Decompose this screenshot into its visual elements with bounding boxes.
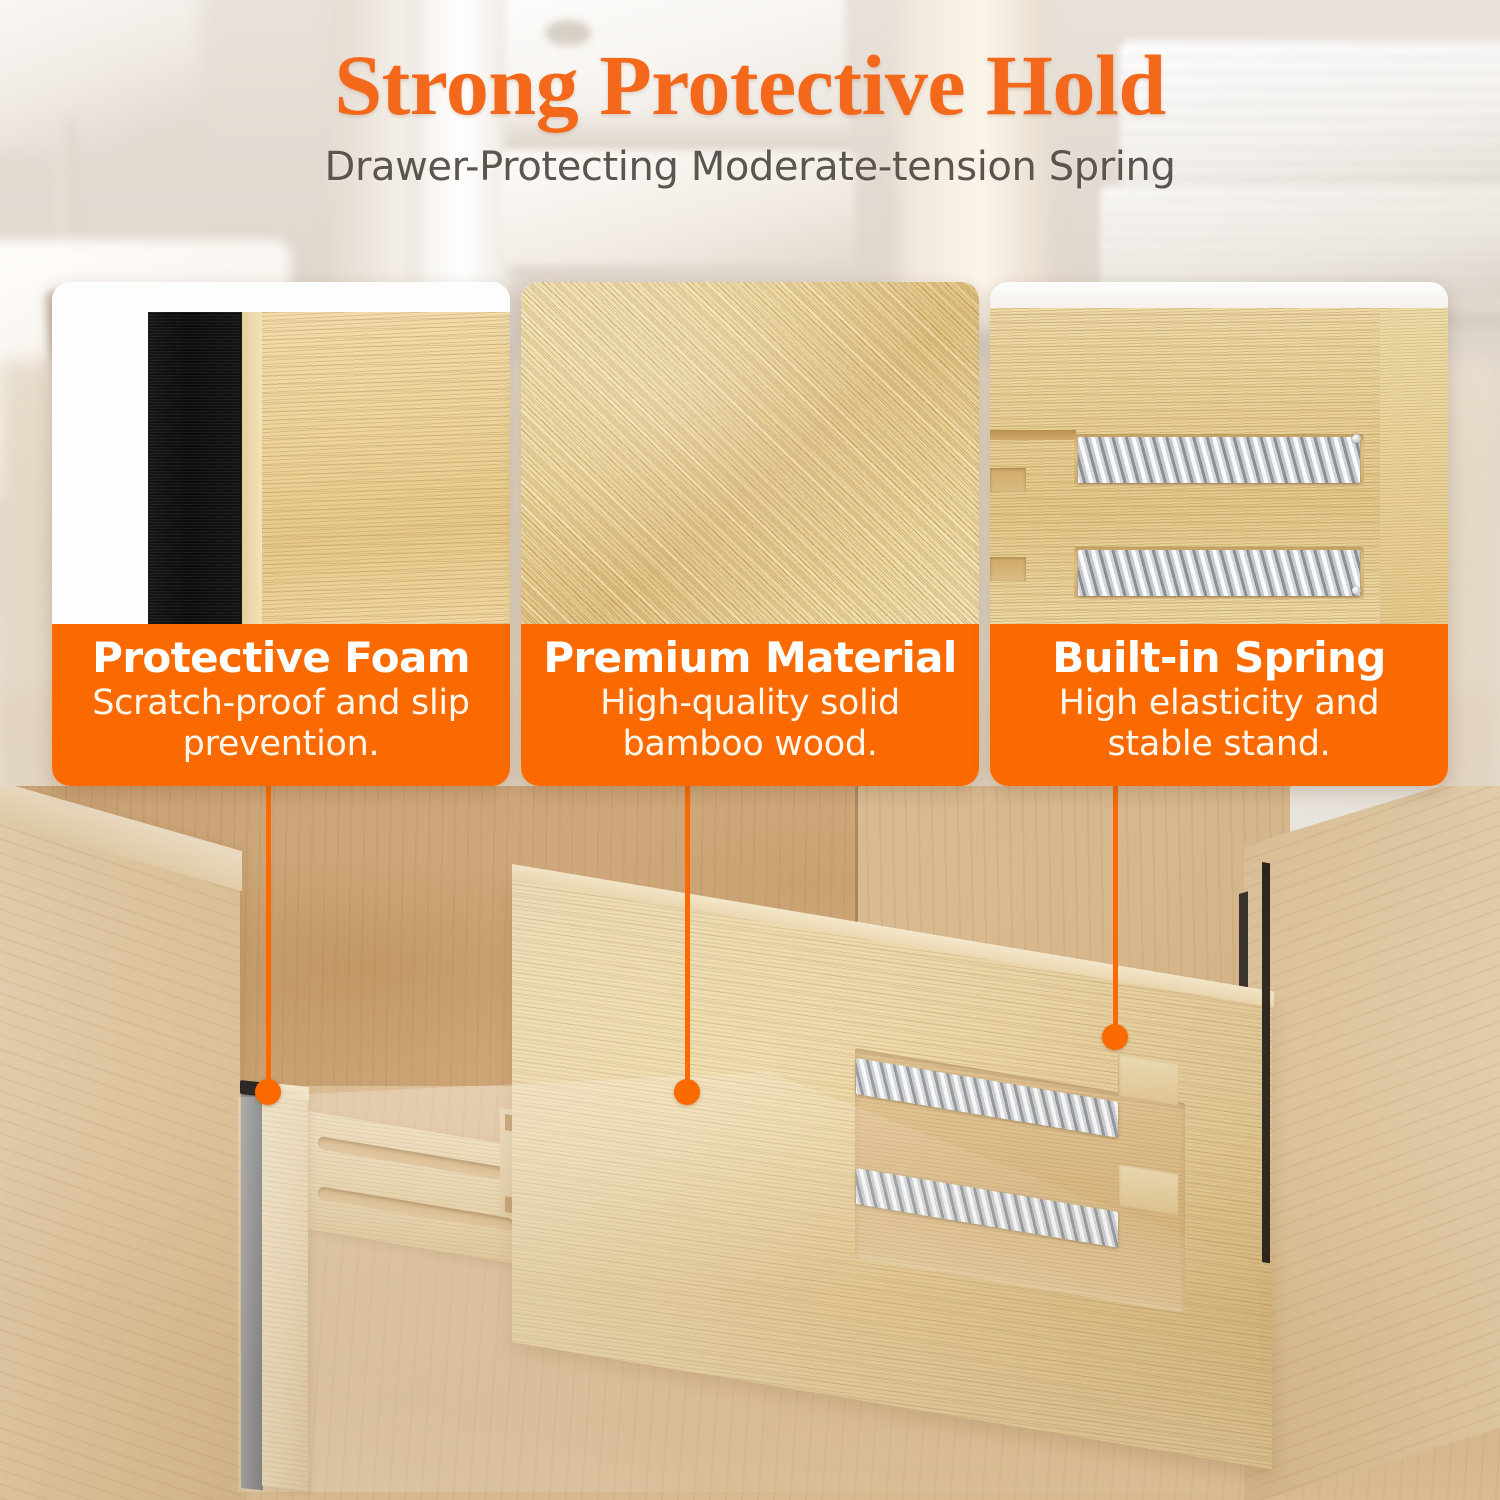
photo-top-white-strip	[990, 282, 1448, 308]
drawer-side-wall-left	[0, 786, 240, 1500]
card-title: Protective Foam	[66, 634, 496, 681]
feature-card-row: Protective Foam Scratch-proof and slip p…	[0, 282, 1500, 788]
card-description: Scratch-proof and slip prevention.	[66, 683, 496, 764]
folded-linen-stack-lower	[1100, 185, 1500, 295]
card-title: Built-in Spring	[1004, 634, 1434, 681]
card-photo-protective-foam	[52, 282, 510, 624]
card-photo-built-in-spring	[990, 282, 1448, 624]
page-subtitle: Drawer-Protecting Moderate-tension Sprin…	[0, 144, 1500, 190]
black-foam-strip	[148, 312, 242, 624]
support-post	[262, 1086, 308, 1491]
protective-foam-pad	[241, 1086, 263, 1490]
bamboo-notch-lower	[990, 557, 1026, 581]
diagonal-bamboo-grain	[521, 282, 979, 624]
drawer-side-wall-right	[1244, 786, 1500, 1500]
feature-card-premium-material[interactable]: Premium Material High-quality solid bamb…	[521, 282, 979, 786]
header-block: Strong Protective Hold Drawer-Protecting…	[0, 42, 1500, 190]
protective-foam-pad-cap	[240, 1080, 264, 1097]
card-description: High elasticity and stable stand.	[1004, 683, 1434, 764]
card-title: Premium Material	[535, 634, 965, 681]
page-title: Strong Protective Hold	[0, 42, 1500, 130]
divider-board-right-edge	[1262, 862, 1270, 1263]
feature-card-built-in-spring[interactable]: Built-in Spring High elasticity and stab…	[990, 282, 1448, 786]
card-description: High-quality solid bamboo wood.	[535, 683, 965, 764]
card-caption-premium-material: Premium Material High-quality solid bamb…	[521, 624, 979, 786]
card-photo-premium-material	[521, 282, 979, 624]
card-caption-built-in-spring: Built-in Spring High elasticity and stab…	[990, 624, 1448, 786]
spring-end-cap-lower	[1352, 586, 1361, 595]
card-caption-protective-foam: Protective Foam Scratch-proof and slip p…	[52, 624, 510, 786]
bamboo-step-edge	[990, 430, 1076, 440]
bamboo-notch-upper	[990, 468, 1026, 492]
hero-product-photo	[0, 786, 1500, 1500]
bamboo-edge-highlight	[242, 312, 262, 624]
coil-spring-lower	[1078, 550, 1360, 596]
bamboo-surface	[262, 312, 510, 624]
feature-card-protective-foam[interactable]: Protective Foam Scratch-proof and slip p…	[52, 282, 510, 786]
bamboo-right-margin	[1380, 308, 1448, 624]
coil-spring-upper	[1078, 437, 1360, 483]
infographic-stage: Strong Protective Hold Drawer-Protecting…	[0, 0, 1500, 1500]
spring-end-cap-upper	[1352, 434, 1361, 443]
